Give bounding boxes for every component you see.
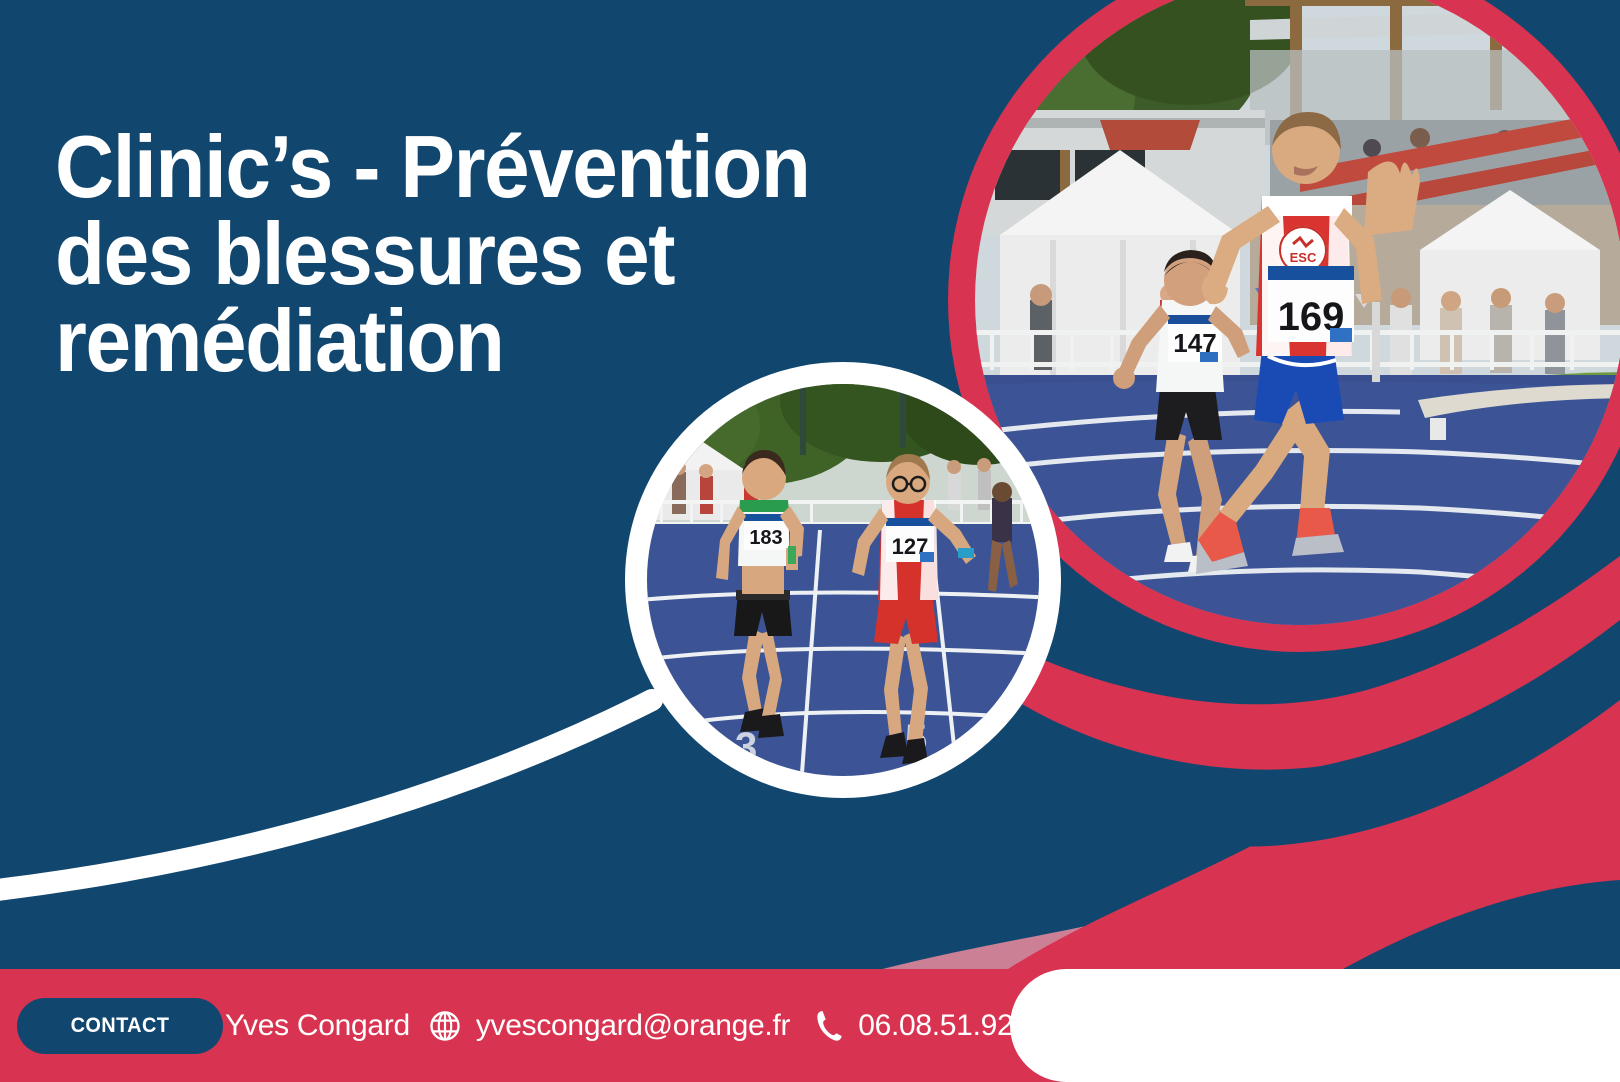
footer-bar: CONTACT Yves Congard yvescongard@orange.… xyxy=(0,969,1620,1082)
contact-email[interactable]: yvescongard@orange.fr xyxy=(476,1009,790,1043)
sponsor-logo-panel xyxy=(1010,969,1620,1082)
phone-icon xyxy=(814,1009,844,1043)
globe-icon xyxy=(428,1009,462,1043)
contact-badge[interactable]: CONTACT xyxy=(17,998,223,1054)
page-title: Clinic’s - Prévention des blessures et r… xyxy=(55,123,935,384)
contact-details: Yves Congard yvescongard@orange.fr 06.08… xyxy=(225,969,1054,1082)
contact-name: Yves Congard xyxy=(225,1009,410,1043)
poster-canvas: 147 xyxy=(0,0,1620,1082)
title-line-2: des blessures et xyxy=(55,210,873,297)
contact-badge-label: CONTACT xyxy=(71,1014,170,1038)
title-line-1: Clinic’s - Prévention xyxy=(55,123,873,210)
title-line-3: remédiation xyxy=(55,297,873,384)
